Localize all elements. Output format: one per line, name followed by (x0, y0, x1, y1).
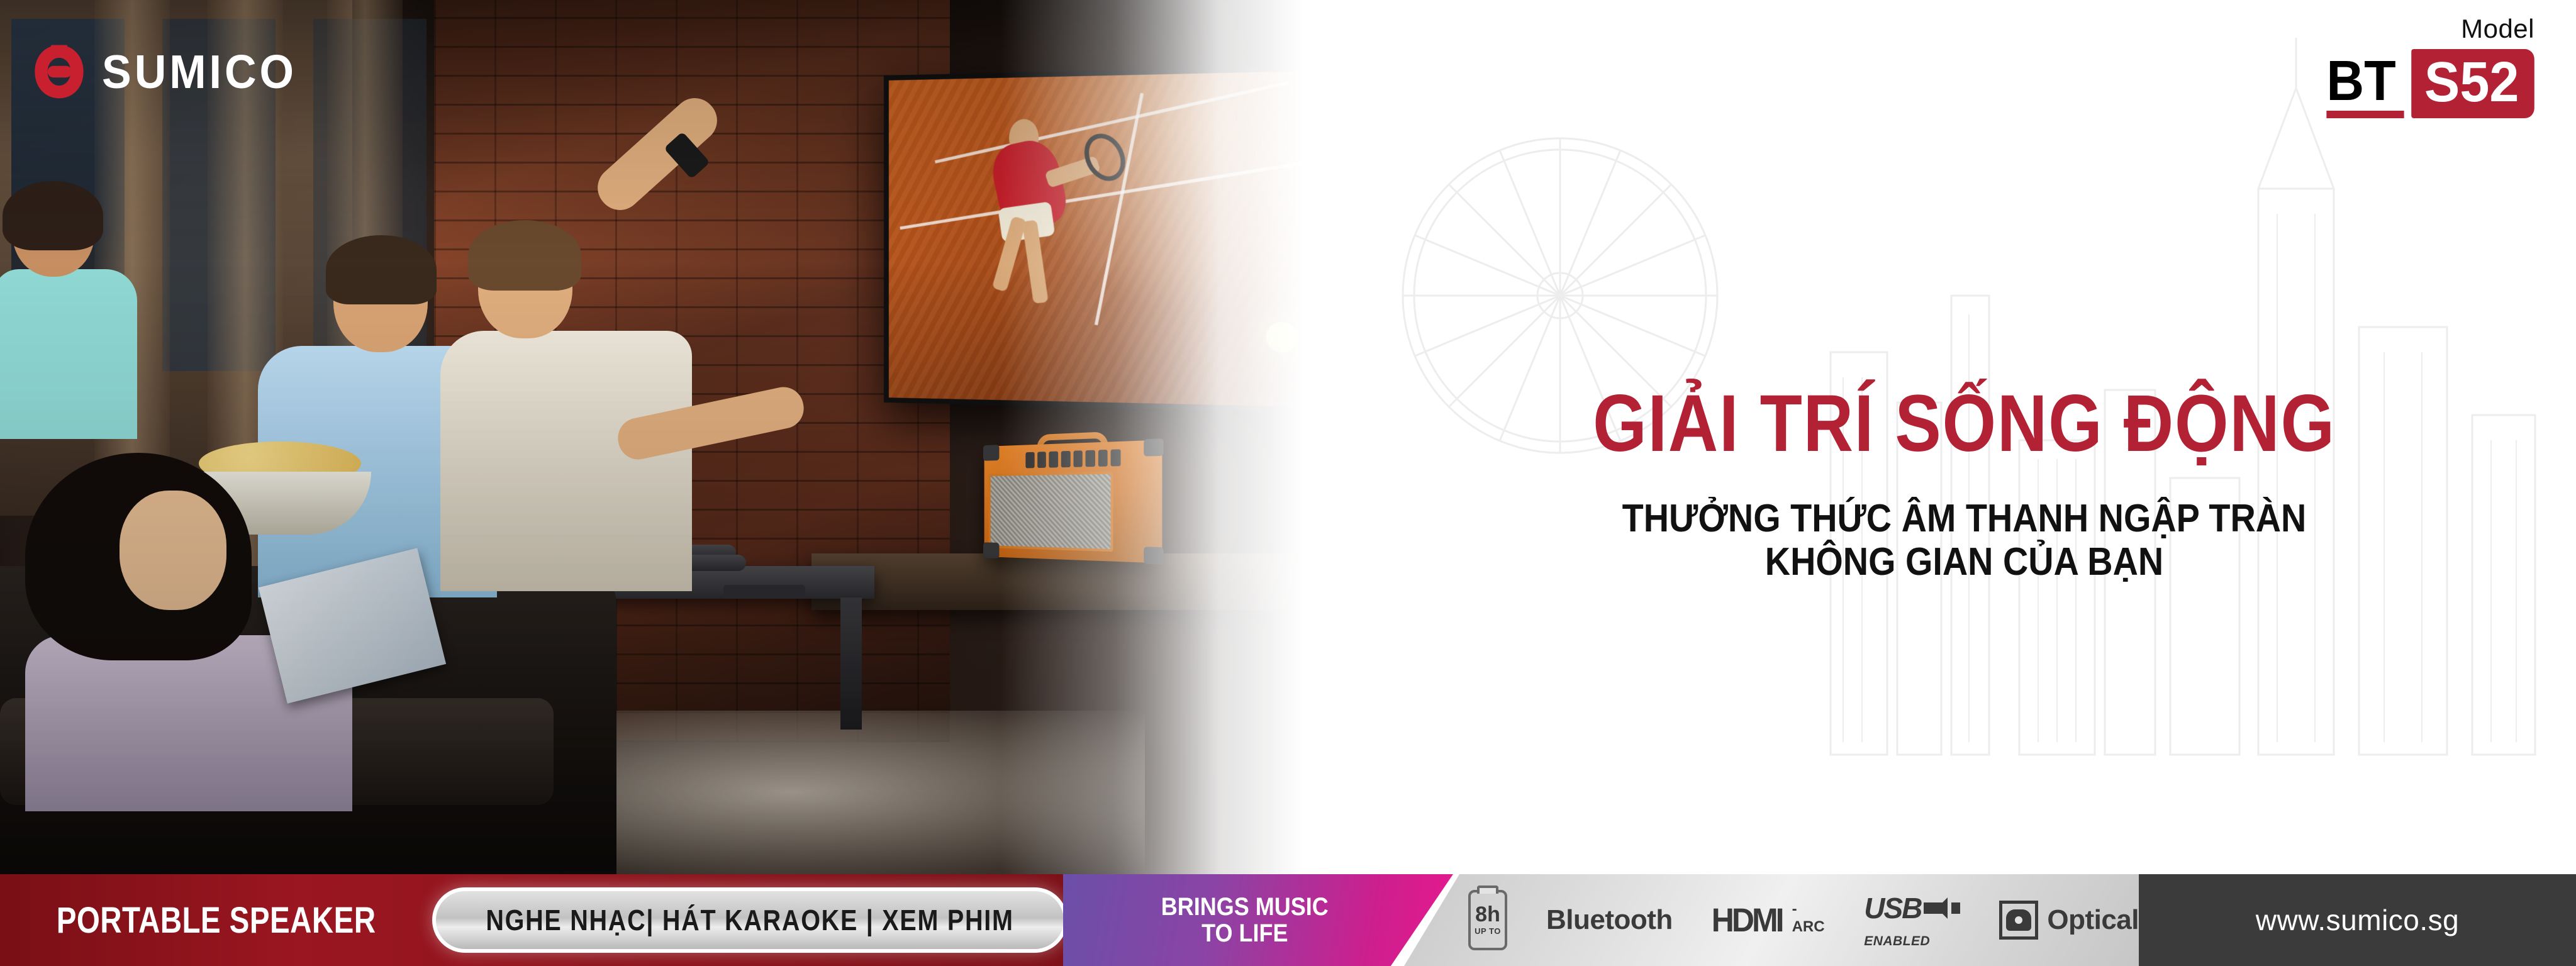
boy-hair (468, 220, 581, 291)
tagline-line-1: BRINGS MUSIC (1161, 893, 1329, 921)
tagline-section: BRINGS MUSIC TO LIFE (1063, 874, 1453, 966)
usb-icon: USB (1864, 891, 1960, 925)
battery-icon: 8h UP TO (1468, 890, 1507, 950)
use-cases-label: NGHE NHẠC| HÁT KARAOKE | XEM PHIM (486, 903, 1014, 937)
person-child-left (0, 189, 138, 453)
subheadline: THƯỞNG THỨC ÂM THANH NGẬP TRÀN KHÔNG GIA… (1413, 497, 2515, 584)
optical-port-icon (1999, 901, 2038, 940)
feature-bluetooth: Bluetooth (1546, 904, 1673, 936)
model-label: Model (2274, 14, 2538, 44)
copy-panel: Model BT S52 GIẢI TRÍ SỐNG ĐỘNG THƯỞNG T… (1352, 0, 2576, 874)
father-hair (326, 235, 437, 304)
speaker-corner (983, 542, 999, 558)
feature-battery: 8h UP TO (1468, 890, 1507, 950)
bottom-bar: PORTABLE SPEAKER NGHE NHẠC| HÁT KARAOKE … (0, 874, 2576, 966)
model-code: S52 (2411, 49, 2534, 118)
usb-caption: ENABLED (1864, 934, 1930, 949)
person-teen-boy (440, 214, 705, 591)
boy-body (440, 331, 692, 591)
category-label: PORTABLE SPEAKER (57, 899, 376, 941)
page-title: GIẢI TRÍ SỐNG ĐỘNG (1438, 377, 2490, 470)
brand-name: SUMICO (102, 45, 297, 99)
optical-port-inner (2006, 909, 2031, 931)
category-section: PORTABLE SPEAKER NGHE NHẠC| HÁT KARAOKE … (0, 874, 1069, 966)
remote-control (723, 585, 805, 599)
usb-connector-icon (1924, 897, 1960, 919)
photo-white-fade (1000, 0, 1352, 874)
brand-logo[interactable]: SUMICO (30, 43, 297, 101)
hdmi-icon: HDMI (1712, 901, 1782, 940)
table-leg (840, 597, 862, 730)
website-url: www.sumico.sg (2256, 903, 2459, 937)
feature-hdmi: HDMI -ARC (1712, 901, 1825, 940)
model-badge: Model BT S52 (2274, 14, 2538, 118)
child-hair (3, 181, 103, 250)
use-cases-pill: NGHE NHẠC| HÁT KARAOKE | XEM PHIM (432, 887, 1068, 953)
feature-icons-section: 8h UP TO Bluetooth HDMI -ARC USB (1399, 874, 2139, 966)
feature-usb: USB ENABLED (1864, 891, 1960, 949)
subheadline-line-1: THƯỞNG THỨC ÂM THANH NGẬP TRÀN (1413, 497, 2515, 540)
child-body (0, 269, 137, 439)
battery-hours: 8h (1475, 904, 1500, 924)
mother-head (120, 491, 226, 610)
bluetooth-icon: Bluetooth (1546, 904, 1673, 936)
battery-caption: UP TO (1475, 926, 1501, 936)
usb-label: USB (1864, 891, 1921, 925)
lifestyle-photo (0, 0, 1352, 874)
sumico-s-circle-icon (30, 43, 88, 101)
tagline: BRINGS MUSIC TO LIFE (1161, 894, 1329, 947)
model-code-row: BT S52 (2274, 49, 2538, 118)
optical-label: Optical (2047, 904, 2139, 936)
speaker-corner (983, 445, 999, 461)
website-section[interactable]: www.sumico.sg (2139, 874, 2576, 966)
tagline-line-2: TO LIFE (1202, 919, 1288, 947)
promo-banner: Model BT S52 GIẢI TRÍ SỐNG ĐỘNG THƯỞNG T… (0, 0, 2576, 966)
hdmi-arc-suffix: -ARC (1792, 901, 1826, 936)
feature-optical: Optical (1999, 901, 2139, 940)
subheadline-line-2: KHÔNG GIAN CỦA BẠN (1413, 540, 2515, 584)
model-prefix: BT (2326, 49, 2404, 118)
